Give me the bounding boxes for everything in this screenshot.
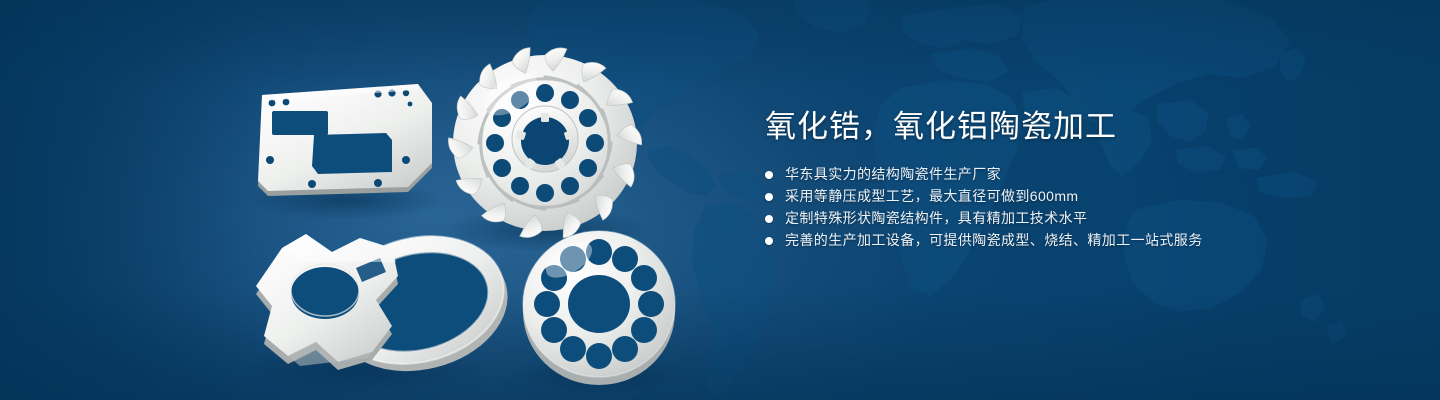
list-item: 华东具实力的结构陶瓷件生产厂家	[765, 164, 1385, 185]
ceramic-cross-plate	[256, 234, 398, 370]
list-item: 采用等静压成型工艺，最大直径可做到600mm	[765, 186, 1385, 207]
banner-text-block: 氧化锆，氧化铝陶瓷加工 华东具实力的结构陶瓷件生产厂家 采用等静压成型工艺，最大…	[765, 108, 1385, 252]
bullet-dot-icon	[765, 193, 773, 201]
ceramic-impeller-wheel	[447, 47, 642, 239]
list-item-label: 华东具实力的结构陶瓷件生产厂家	[785, 164, 1001, 185]
list-item: 完善的生产加工设备，可提供陶瓷成型、烧结、精加工一站式服务	[765, 230, 1385, 251]
hero-banner: 氧化锆，氧化铝陶瓷加工 华东具实力的结构陶瓷件生产厂家 采用等静压成型工艺，最大…	[0, 0, 1440, 400]
page-title: 氧化锆，氧化铝陶瓷加工	[765, 108, 1385, 146]
list-item-label: 定制特殊形状陶瓷结构件，具有精加工技术水平	[785, 208, 1087, 229]
bullet-dot-icon	[765, 171, 773, 179]
ceramic-products-image	[0, 0, 760, 400]
list-item: 定制特殊形状陶瓷结构件，具有精加工技术水平	[765, 208, 1385, 229]
feature-list: 华东具实力的结构陶瓷件生产厂家 采用等静压成型工艺，最大直径可做到600mm 定…	[765, 164, 1385, 251]
list-item-label: 完善的生产加工设备，可提供陶瓷成型、烧结、精加工一站式服务	[785, 230, 1203, 251]
ceramic-perforated-disc	[523, 231, 675, 385]
list-item-label: 采用等静压成型工艺，最大直径可做到600mm	[785, 186, 1078, 207]
bullet-dot-icon	[765, 237, 773, 245]
ceramic-mounting-plate	[258, 84, 432, 196]
bullet-dot-icon	[765, 215, 773, 223]
